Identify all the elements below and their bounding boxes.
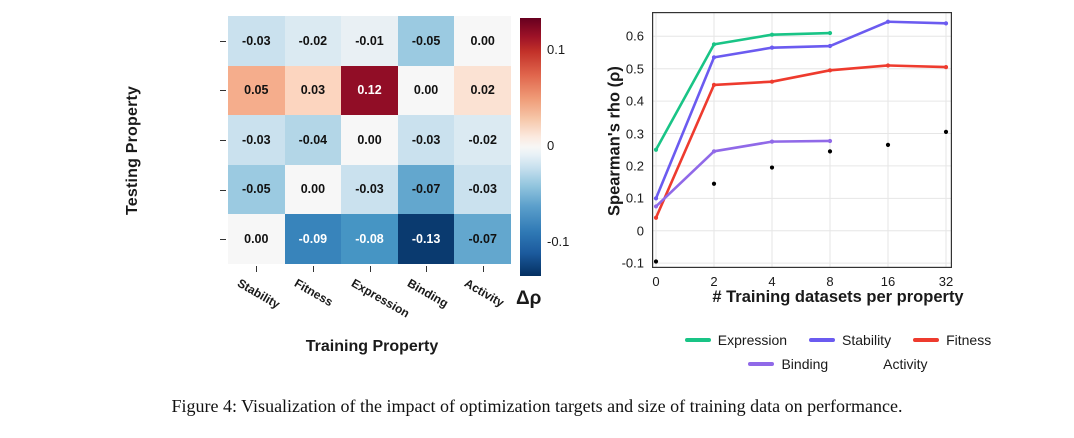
heatmap-cell: 0.00 bbox=[285, 165, 342, 215]
legend-item-activity[interactable]: Activity bbox=[850, 356, 927, 372]
heatmap-cell: -0.02 bbox=[454, 115, 511, 165]
heatmap-cell: -0.07 bbox=[398, 165, 455, 215]
heatmap-cell: -0.04 bbox=[285, 115, 342, 165]
heatmap-colorbar: 0.10-0.1 Δρ bbox=[516, 10, 600, 320]
heatmap-y-tick-mark bbox=[220, 140, 226, 141]
line-series-stability bbox=[656, 22, 946, 199]
line-chart-x-tick: 4 bbox=[768, 274, 775, 289]
heatmap-y-tick-mark bbox=[220, 90, 226, 91]
line-chart-y-tick: 0.3 bbox=[626, 126, 644, 141]
data-point-activity bbox=[712, 182, 716, 186]
figure-4: Testing Property Training Property Activ… bbox=[0, 0, 1074, 438]
legend-item-stability[interactable]: Stability bbox=[809, 332, 891, 348]
heatmap-cell: 0.05 bbox=[228, 66, 285, 116]
heatmap-cell: 0.03 bbox=[285, 66, 342, 116]
line-chart-x-tick: 2 bbox=[710, 274, 717, 289]
heatmap-x-tick-mark bbox=[313, 266, 314, 272]
data-point-stability bbox=[712, 55, 716, 59]
line-chart-plot-area bbox=[652, 12, 952, 268]
heatmap-x-tick-fitness: Fitness bbox=[292, 276, 335, 309]
data-point-stability bbox=[654, 196, 658, 200]
legend-row: BindingActivity bbox=[608, 352, 1068, 376]
heatmap-cell: -0.03 bbox=[228, 115, 285, 165]
line-chart-x-tick: 32 bbox=[939, 274, 953, 289]
data-point-binding bbox=[654, 204, 658, 208]
line-chart-y-tick: 0.4 bbox=[626, 94, 644, 109]
heatmap-x-tick-mark bbox=[370, 266, 371, 272]
legend-label: Activity bbox=[883, 356, 927, 372]
heatmap-y-axis-label: Testing Property bbox=[118, 50, 148, 250]
legend-item-fitness[interactable]: Fitness bbox=[913, 332, 991, 348]
data-point-activity bbox=[828, 149, 832, 153]
legend-label: Binding bbox=[781, 356, 828, 372]
legend-label: Expression bbox=[718, 332, 787, 348]
heatmap-x-tick-mark bbox=[256, 266, 257, 272]
data-point-binding bbox=[712, 149, 716, 153]
legend-row: ExpressionStabilityFitness bbox=[608, 328, 1068, 352]
heatmap-x-tick-expression: Expression bbox=[349, 276, 412, 320]
data-point-binding bbox=[770, 140, 774, 144]
colorbar-tick: 0.1 bbox=[547, 42, 565, 57]
line-chart-x-tick: 16 bbox=[881, 274, 895, 289]
heatmap-cell: 0.00 bbox=[341, 115, 398, 165]
data-point-stability bbox=[886, 20, 890, 24]
data-point-binding bbox=[828, 139, 832, 143]
heatmap-cell: -0.01 bbox=[341, 16, 398, 66]
line-chart-y-tick: -0.1 bbox=[622, 256, 644, 271]
heatmap-cell: -0.03 bbox=[228, 16, 285, 66]
heatmap-cell: 0.00 bbox=[454, 16, 511, 66]
line-chart-x-axis-label: # Training datasets per property bbox=[628, 288, 1048, 307]
data-point-activity bbox=[944, 130, 948, 134]
line-chart-y-tick: 0.5 bbox=[626, 61, 644, 76]
legend-item-expression[interactable]: Expression bbox=[685, 332, 787, 348]
heatmap-y-tick-mark bbox=[220, 190, 226, 191]
heatmap-x-tick-mark bbox=[483, 266, 484, 272]
data-point-stability bbox=[828, 44, 832, 48]
data-point-activity bbox=[770, 165, 774, 169]
heatmap-x-tick-mark bbox=[426, 266, 427, 272]
heatmap-cell: -0.08 bbox=[341, 214, 398, 264]
heatmap-cell: 0.00 bbox=[398, 66, 455, 116]
data-point-stability bbox=[770, 46, 774, 50]
data-point-fitness bbox=[654, 216, 658, 220]
heatmap-cell: 0.12 bbox=[341, 66, 398, 116]
legend-item-binding[interactable]: Binding bbox=[748, 356, 828, 372]
heatmap-cell: -0.02 bbox=[285, 16, 342, 66]
figure-caption: Figure 4: Visualization of the impact of… bbox=[0, 396, 1074, 417]
data-point-expression bbox=[770, 33, 774, 37]
heatmap-y-tick-mark bbox=[220, 239, 226, 240]
heatmap-x-tick-activity: Activity bbox=[462, 276, 507, 310]
heatmap-cell: -0.03 bbox=[454, 165, 511, 215]
heatmap-cell: -0.03 bbox=[341, 165, 398, 215]
line-chart-y-axis-label: Spearman's rho (ρ) bbox=[602, 10, 628, 272]
heatmap-y-tick-mark bbox=[220, 41, 226, 42]
heatmap-cell: -0.07 bbox=[454, 214, 511, 264]
data-point-fitness bbox=[944, 65, 948, 69]
legend-label: Fitness bbox=[946, 332, 991, 348]
heatmap-cell: -0.13 bbox=[398, 214, 455, 264]
heatmap-x-tick-binding: Binding bbox=[405, 276, 451, 310]
legend-label: Stability bbox=[842, 332, 891, 348]
line-chart-y-tick: 0.6 bbox=[626, 29, 644, 44]
data-point-expression bbox=[712, 42, 716, 46]
data-point-activity bbox=[654, 259, 658, 263]
legend-swatch-stability bbox=[809, 338, 835, 342]
colorbar-tick: 0 bbox=[547, 138, 554, 153]
line-series-activity bbox=[656, 132, 946, 262]
heatmap-cell: -0.05 bbox=[398, 16, 455, 66]
heatmap-cell: -0.03 bbox=[398, 115, 455, 165]
line-chart-y-tick: 0 bbox=[637, 223, 644, 238]
line-chart-y-tick: 0.1 bbox=[626, 191, 644, 206]
colorbar-label: Δρ bbox=[516, 288, 541, 310]
line-chart-legend: ExpressionStabilityFitnessBindingActivit… bbox=[608, 328, 1068, 376]
line-chart-y-tick: 0.2 bbox=[626, 158, 644, 173]
data-point-stability bbox=[944, 21, 948, 25]
data-point-activity bbox=[886, 143, 890, 147]
legend-swatch-activity bbox=[850, 362, 876, 366]
heatmap-x-tick-stability: Stability bbox=[235, 276, 282, 311]
heatmap-cell: -0.05 bbox=[228, 165, 285, 215]
legend-swatch-fitness bbox=[913, 338, 939, 342]
heatmap-cell: 0.00 bbox=[228, 214, 285, 264]
legend-swatch-expression bbox=[685, 338, 711, 342]
data-point-fitness bbox=[770, 80, 774, 84]
data-point-expression bbox=[654, 148, 658, 152]
data-point-fitness bbox=[828, 68, 832, 72]
heatmap-x-axis-label: Training Property bbox=[228, 338, 516, 356]
legend-swatch-binding bbox=[748, 362, 774, 366]
heatmap-cell: -0.09 bbox=[285, 214, 342, 264]
line-series-binding bbox=[656, 141, 830, 206]
heatmap-grid: -0.03-0.02-0.01-0.050.000.050.030.120.00… bbox=[228, 16, 511, 264]
data-point-expression bbox=[828, 31, 832, 35]
data-point-fitness bbox=[712, 83, 716, 87]
heatmap-panel: Testing Property Training Property Activ… bbox=[0, 0, 600, 390]
colorbar-tick: -0.1 bbox=[547, 234, 569, 249]
line-chart-svg bbox=[652, 12, 952, 268]
data-point-fitness bbox=[886, 63, 890, 67]
line-chart-x-tick: 0 bbox=[652, 274, 659, 289]
line-chart-x-tick: 8 bbox=[826, 274, 833, 289]
colorbar-gradient bbox=[520, 18, 541, 276]
heatmap-cell: 0.02 bbox=[454, 66, 511, 116]
